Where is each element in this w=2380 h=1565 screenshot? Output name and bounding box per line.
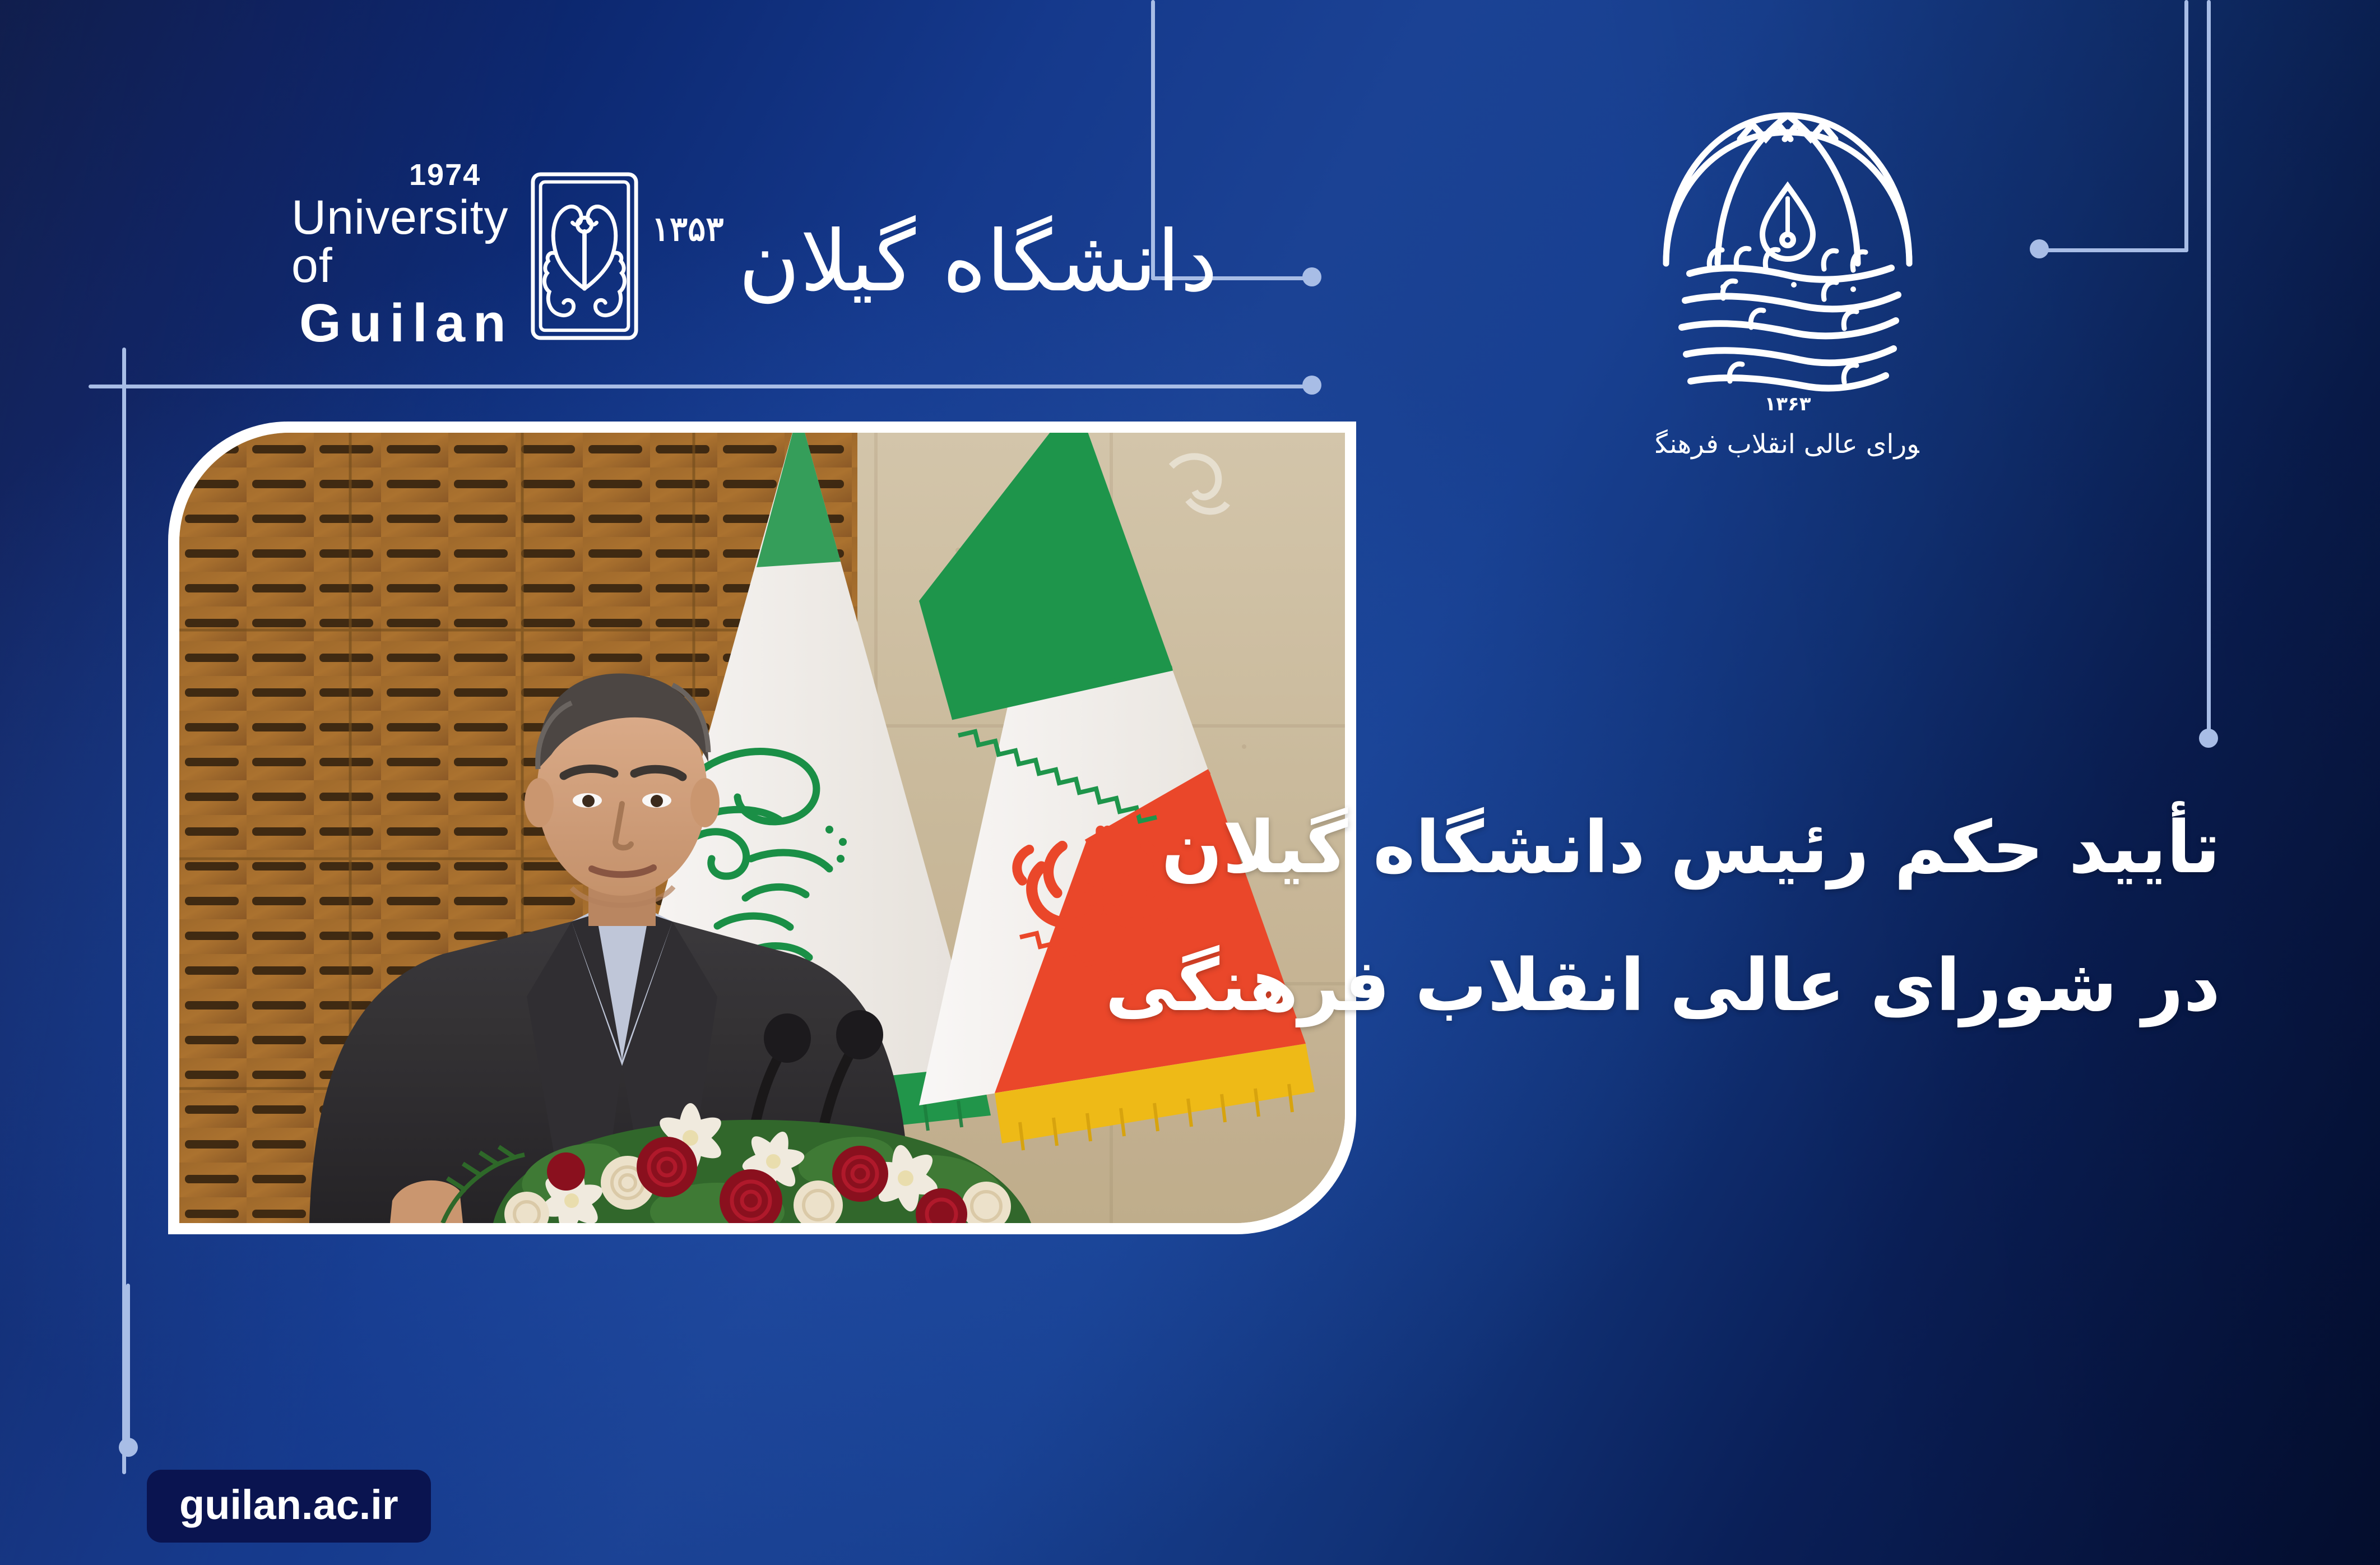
deco-hline-right-elbow: [2034, 248, 2188, 252]
ug-latin-line2: Guilan: [299, 297, 514, 350]
deco-dot-right-elbow: [2030, 239, 2049, 258]
page-title: تأیید حکم رئیس دانشگاه گیلان در شورای عا…: [1256, 779, 2220, 1055]
headline-line-1: تأیید حکم رئیس دانشگاه گیلان: [1256, 779, 2220, 917]
ug-persian-name: دانشگاه گیلان: [739, 220, 1218, 304]
guilan-butterfly-emblem-icon: [530, 171, 639, 339]
sccr-caption: شورای عالی انقلاب فرهنگی: [1656, 429, 1919, 460]
deco-vline-topleft: [122, 348, 126, 1474]
sccr-dome-icon: ۱۳۶۳ شورای عالی انقلاب فرهنگی: [1656, 78, 1919, 471]
university-of-guilan-logo: 1974 University of Guilan ۱۳۵۳ دانشگاه گ…: [291, 163, 1054, 348]
deco-vline-right-elbow: [2184, 0, 2188, 252]
news-poster: 1974 University of Guilan ۱۳۵۳ دانشگاه گ…: [0, 0, 2380, 1565]
deco-vline-badge: [126, 1284, 130, 1446]
deco-dot-upper-elbow: [1302, 267, 1321, 286]
supreme-council-cultural-revolution-logo: ۱۳۶۳ شورای عالی انقلاب فرهنگی: [1656, 78, 1919, 471]
deco-dot-badge: [119, 1438, 138, 1457]
sccr-year: ۱۳۶۳: [1764, 393, 1811, 415]
ug-latin-text-block: 1974 University of Guilan: [291, 160, 514, 350]
ug-persian-year: ۱۳۵۳: [652, 210, 724, 249]
website-url-badge[interactable]: guilan.ac.ir: [147, 1470, 431, 1543]
ug-latin-year: 1974: [409, 160, 514, 190]
headline-line-2: در شورای عالی انقلاب فرهنگی: [1256, 917, 2220, 1055]
ug-latin-line1: University of: [291, 193, 514, 290]
deco-dot-right-long: [2199, 729, 2218, 748]
deco-dot-midleft-row: [1302, 376, 1321, 395]
deco-hline-topleft: [89, 385, 1316, 388]
deco-vline-right-long: [2207, 0, 2211, 740]
